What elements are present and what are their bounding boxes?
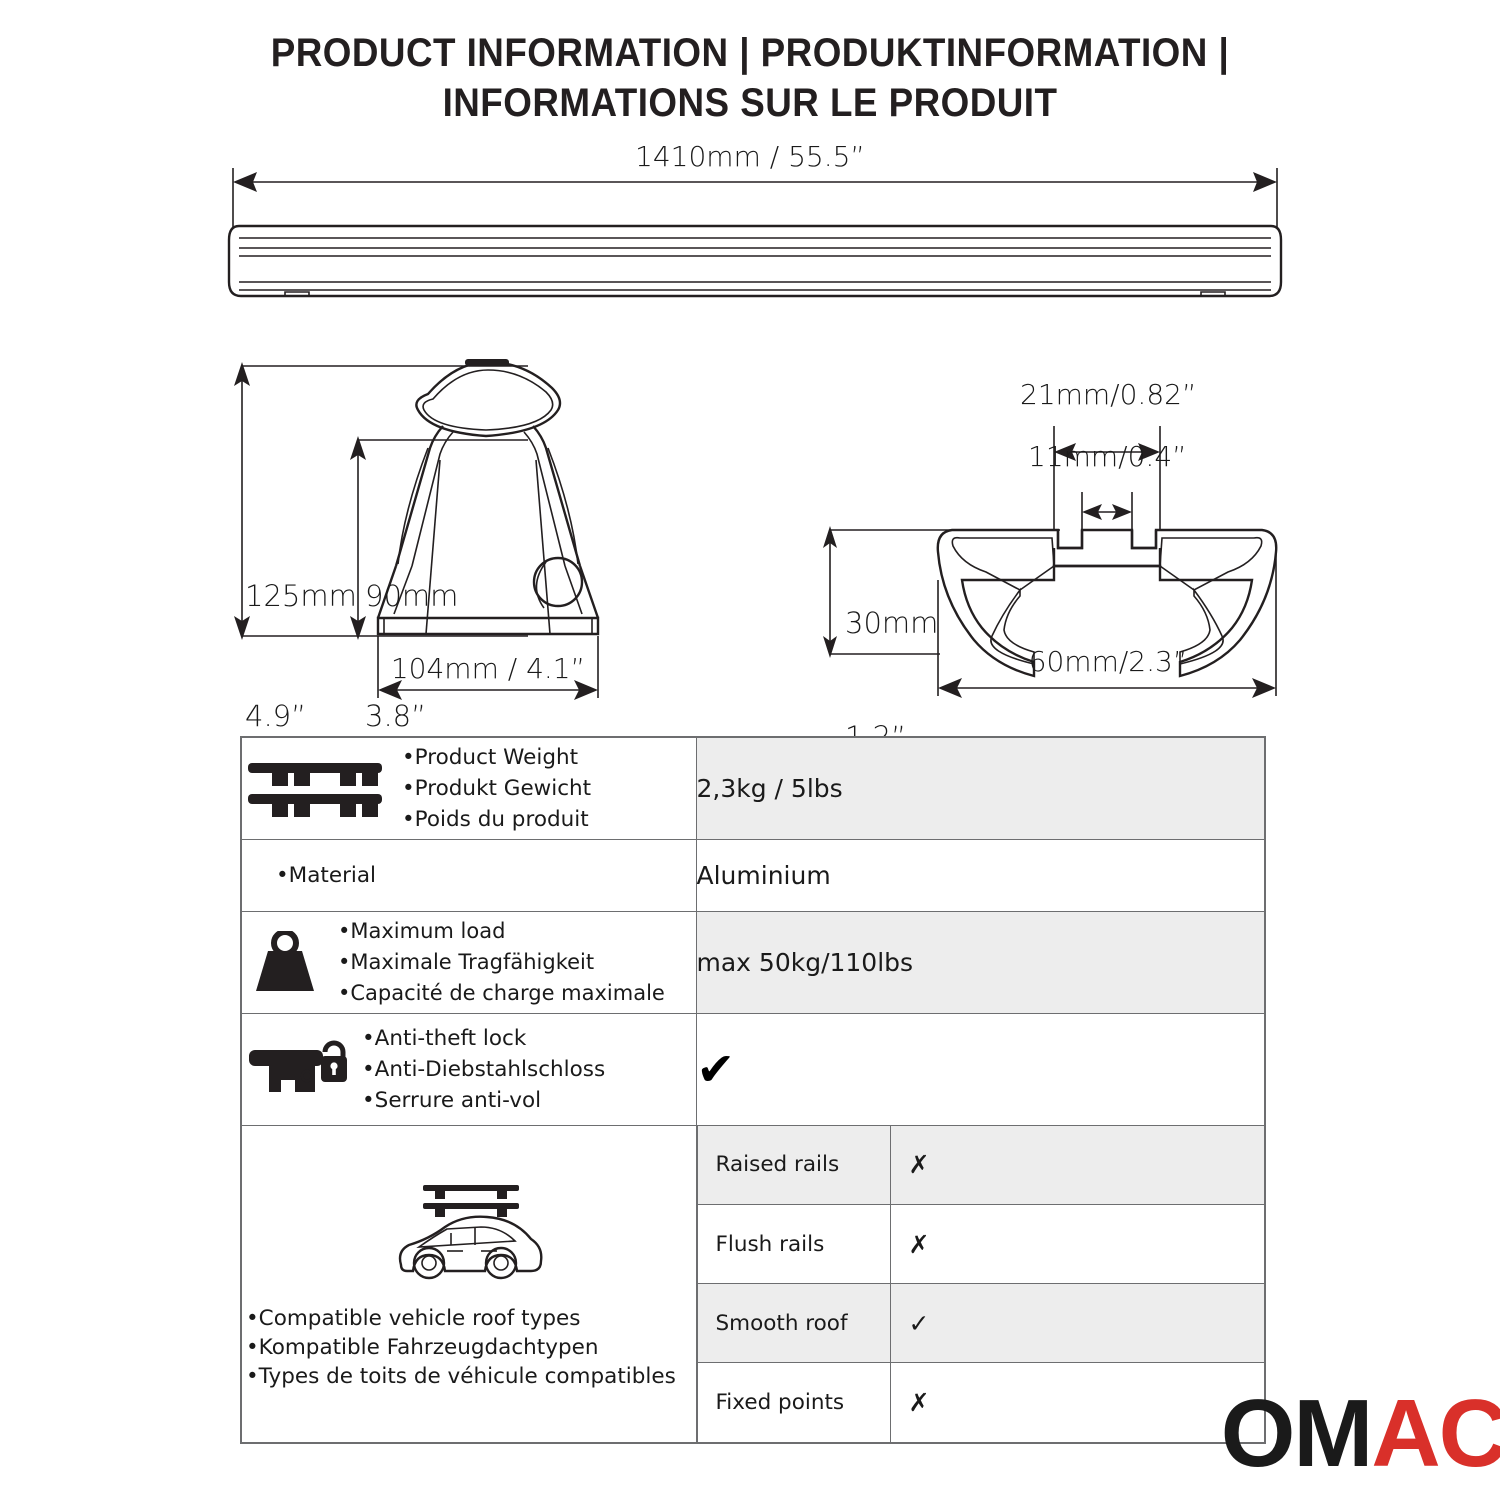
omac-logo-dark-part: OM <box>1221 1380 1372 1487</box>
table-row-maximum-load: •Maximum load •Maximale Tragfähigkeit •C… <box>241 911 1265 1013</box>
table-row-product-weight: •Product Weight •Produkt Gewicht •Poids … <box>241 737 1265 839</box>
foot-inner-height-line1: 90mm <box>365 576 458 616</box>
anti-theft-lock-labels: •Anti-theft lock •Anti-Diebstahlschloss … <box>362 1023 605 1116</box>
compatibility-label-de: •Kompatible Fahrzeugdachtypen <box>246 1333 696 1362</box>
car-with-bars-icon <box>242 1177 696 1300</box>
profile-slot-inner-label: 11mm/0.4” <box>1028 440 1187 473</box>
crossbar-top-view-drawing <box>225 168 1285 308</box>
roof-type-row-raised-rails: Raised rails ✗ <box>697 1126 1264 1205</box>
profile-slot-outer-label: 21mm/0.82” <box>1020 378 1196 411</box>
roof-type-mark-smooth-roof: ✓ <box>890 1284 1264 1363</box>
maximum-load-label-fr: •Capacité de charge maximale <box>338 978 665 1009</box>
table-row-material: •Material Aluminium <box>241 839 1265 911</box>
profile-width-label: 60mm/2.3” <box>938 645 1278 678</box>
material-label-en: •Material <box>276 860 376 891</box>
product-weight-label-cell: •Product Weight •Produkt Gewicht •Poids … <box>241 737 696 839</box>
foot-width-label: 104mm / 4.1” <box>378 652 598 685</box>
roof-type-row-smooth-roof: Smooth roof ✓ <box>697 1284 1264 1363</box>
compatibility-label-en: •Compatible vehicle roof types <box>246 1304 696 1333</box>
title-line-1: PRODUCT INFORMATION | PRODUKTINFORMATION… <box>60 28 1440 78</box>
title-line-2: INFORMATIONS SUR LE PRODUIT <box>60 78 1440 128</box>
maximum-load-label-en: •Maximum load <box>338 916 665 947</box>
material-value: Aluminium <box>696 839 1265 911</box>
anti-theft-lock-label-de: •Anti-Diebstahlschloss <box>362 1054 605 1085</box>
anti-theft-lock-label-fr: •Serrure anti-vol <box>362 1085 605 1116</box>
roof-type-name-smooth-roof: Smooth roof <box>697 1284 890 1363</box>
material-labels: •Material <box>242 860 376 891</box>
table-row-compatibility: •Compatible vehicle roof types •Kompatib… <box>241 1125 1265 1443</box>
roof-type-mark-fixed-points: ✗ <box>890 1363 1264 1442</box>
roof-type-mark-raised-rails: ✗ <box>890 1126 1264 1205</box>
material-label-cell: •Material <box>241 839 696 911</box>
maximum-load-label-de: •Maximale Tragfähigkeit <box>338 947 665 978</box>
product-weight-labels: •Product Weight •Produkt Gewicht •Poids … <box>402 742 591 835</box>
anti-theft-lock-label-cell: •Anti-theft lock •Anti-Diebstahlschloss … <box>241 1013 696 1125</box>
anti-theft-lock-label-en: •Anti-theft lock <box>362 1023 605 1054</box>
product-weight-value: 2,3kg / 5lbs <box>696 737 1265 839</box>
roof-type-row-fixed-points: Fixed points ✗ <box>697 1363 1264 1442</box>
product-weight-label-de: •Produkt Gewicht <box>402 773 591 804</box>
roof-type-mark-flush-rails: ✗ <box>890 1205 1264 1284</box>
anti-theft-lock-value: ✔ <box>696 1013 1265 1125</box>
compatibility-labels: •Compatible vehicle roof types •Kompatib… <box>242 1304 696 1391</box>
table-row-anti-theft-lock: •Anti-theft lock •Anti-Diebstahlschloss … <box>241 1013 1265 1125</box>
profile-height-line1: 30mm <box>845 604 938 642</box>
compatibility-label-cell: •Compatible vehicle roof types •Kompatib… <box>241 1125 696 1443</box>
maximum-load-labels: •Maximum load •Maximale Tragfähigkeit •C… <box>338 916 665 1009</box>
roof-type-table: Raised rails ✗ Flush rails ✗ Smooth roof… <box>697 1126 1265 1442</box>
product-weight-label-en: •Product Weight <box>402 742 591 773</box>
maximum-load-label-cell: •Maximum load •Maximale Tragfähigkeit •C… <box>241 911 696 1013</box>
maximum-load-value: max 50kg/110lbs <box>696 911 1265 1013</box>
roof-type-row-flush-rails: Flush rails ✗ <box>697 1205 1264 1284</box>
product-weight-label-fr: •Poids du produit <box>402 804 591 835</box>
weight-icon <box>242 931 328 993</box>
roof-type-name-fixed-points: Fixed points <box>697 1363 890 1442</box>
compatibility-label-fr: •Types de toits de véhicule compatibles <box>246 1362 696 1391</box>
lock-icon <box>242 1036 352 1102</box>
roof-type-name-flush-rails: Flush rails <box>697 1205 890 1284</box>
omac-logo-red-part: AC <box>1371 1380 1500 1487</box>
product-spec-table: •Product Weight •Produkt Gewicht •Poids … <box>240 736 1266 1444</box>
omac-logo: OMAC <box>1221 1386 1500 1482</box>
roof-type-name-raised-rails: Raised rails <box>697 1126 890 1205</box>
anti-theft-lock-checkmark: ✔ <box>697 1042 736 1096</box>
page-title: PRODUCT INFORMATION | PRODUKTINFORMATION… <box>0 28 1500 128</box>
foot-total-height-line1: 125mm <box>245 576 357 616</box>
roof-bars-icon <box>242 757 392 819</box>
compatibility-matrix-cell: Raised rails ✗ Flush rails ✗ Smooth roof… <box>696 1125 1265 1443</box>
foot-inner-height-line2: 3.8” <box>365 696 458 736</box>
product-information-sheet: PRODUCT INFORMATION | PRODUKTINFORMATION… <box>0 0 1500 1500</box>
foot-total-height-line2: 4.9” <box>245 696 357 736</box>
